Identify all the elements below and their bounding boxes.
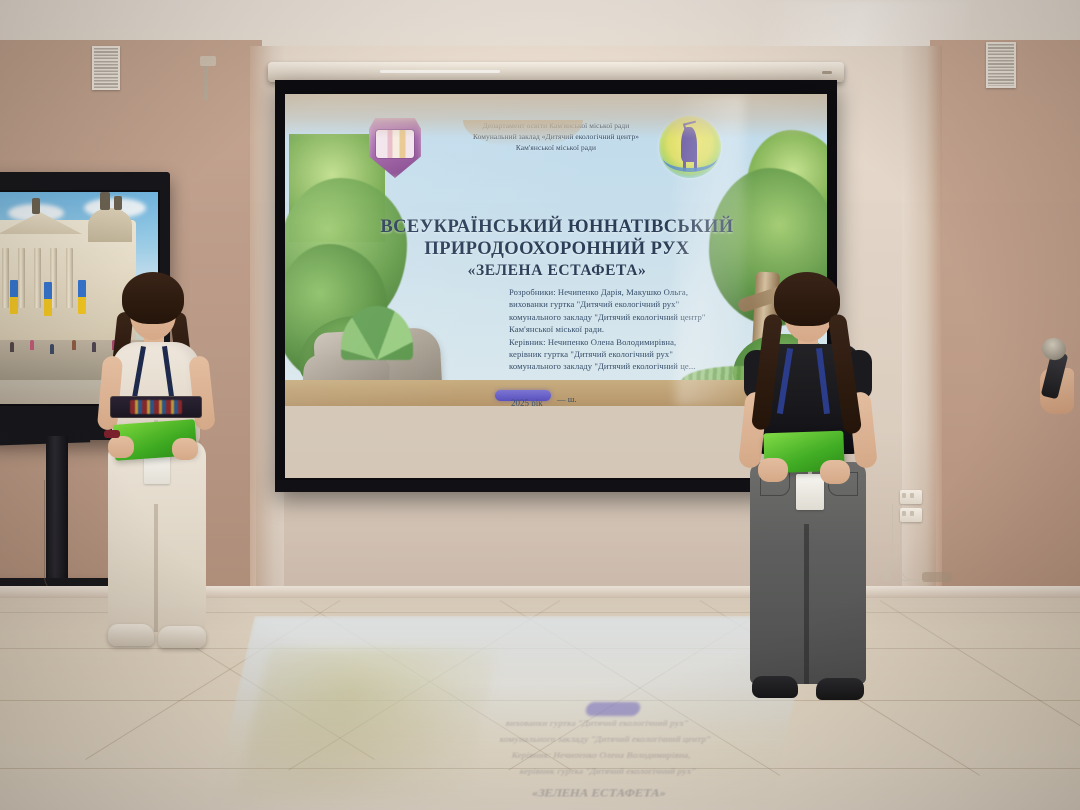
roller-slot: [380, 70, 500, 73]
floor-cable-duct: [922, 572, 952, 582]
left-presenter-trouser-seam: [154, 504, 158, 632]
left-presenter-hair: [122, 272, 184, 324]
photograph-scene: Департамент освіти Кам'янської міської р…: [0, 0, 1080, 810]
right-presenter: [724, 272, 914, 740]
right-presenter-hand-right: [820, 460, 850, 484]
right-presenter-shoe-right: [816, 678, 864, 700]
left-presenter-hand-left: [108, 436, 134, 458]
tv-power-cable: [44, 480, 73, 593]
left-presenter-belt-embroidery: [130, 400, 182, 414]
wall-bracket: [200, 56, 216, 66]
wall-bracket-arm: [204, 66, 208, 100]
ceiling-vent-left: [92, 46, 120, 90]
wall-upper-right: [930, 40, 1080, 600]
roller-knob[interactable]: [822, 71, 832, 74]
right-presenter-jeans-seam: [804, 524, 809, 684]
right-presenter-shoe-left: [752, 676, 798, 698]
right-presenter-hand-left: [758, 458, 788, 482]
left-presenter-shoe-left: [108, 624, 154, 646]
projector-screen-roller-housing[interactable]: [268, 62, 844, 82]
ceiling-vent-right: [986, 42, 1016, 88]
left-presenter-shoe-right: [158, 626, 206, 648]
left-presenter: [86, 272, 246, 720]
right-presenter-name-badge: [796, 474, 824, 510]
left-presenter-wristband: [104, 430, 120, 438]
left-presenter-hand-right: [172, 438, 198, 460]
